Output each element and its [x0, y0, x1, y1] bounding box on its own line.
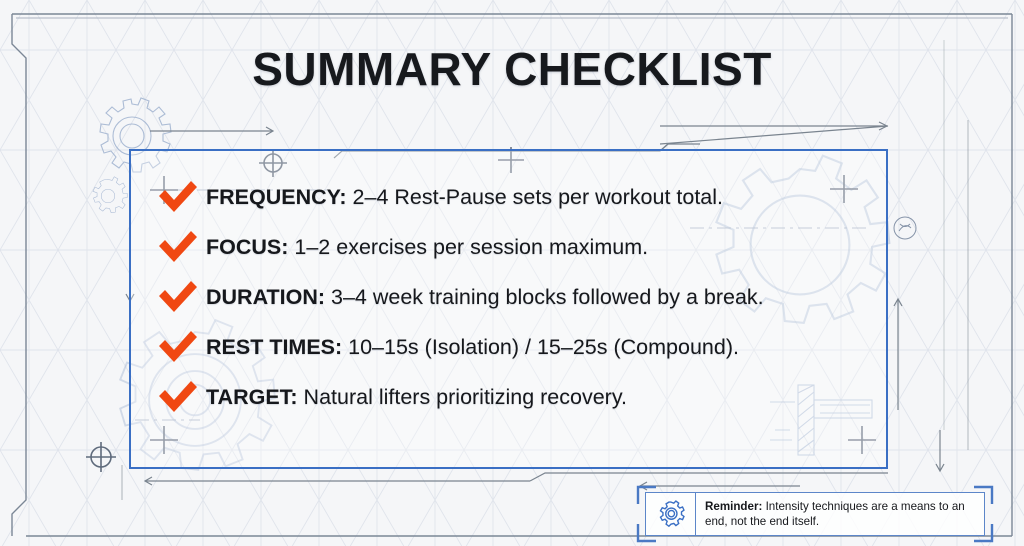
list-item-text: FOCUS: 1–2 exercises per session maximum… — [206, 235, 648, 260]
list-item-label: REST TIMES: — [206, 335, 342, 359]
check-icon — [150, 279, 206, 315]
list-item-value: Natural lifters prioritizing recovery. — [298, 385, 627, 409]
list-item-value: 1–2 exercises per session maximum. — [288, 235, 648, 259]
slide-canvas: SUMMARY CHECKLIST FREQUENCY: 2–4 Rest-Pa… — [0, 0, 1024, 546]
check-icon — [150, 379, 206, 415]
list-item-value: 10–15s (Isolation) / 15–25s (Compound). — [342, 335, 739, 359]
gear-icon — [646, 493, 696, 535]
list-item-label: DURATION: — [206, 285, 325, 309]
list-item-text: TARGET: Natural lifters prioritizing rec… — [206, 385, 627, 410]
list-item: DURATION: 3–4 week training blocks follo… — [150, 272, 890, 322]
list-item: TARGET: Natural lifters prioritizing rec… — [150, 372, 890, 422]
list-item-label: FOCUS: — [206, 235, 288, 259]
check-icon — [150, 179, 206, 215]
checklist: FREQUENCY: 2–4 Rest-Pause sets per worko… — [150, 172, 890, 422]
check-icon — [150, 229, 206, 265]
check-icon — [150, 329, 206, 365]
list-item: REST TIMES: 10–15s (Isolation) / 15–25s … — [150, 322, 890, 372]
reminder-text: Reminder: Intensity techniques are a mea… — [696, 499, 984, 530]
list-item: FREQUENCY: 2–4 Rest-Pause sets per worko… — [150, 172, 890, 222]
reminder-label: Reminder: — [705, 500, 762, 513]
list-item-value: 2–4 Rest-Pause sets per workout total. — [347, 185, 723, 209]
reminder-box: Reminder: Intensity techniques are a mea… — [645, 492, 985, 536]
list-item-text: REST TIMES: 10–15s (Isolation) / 15–25s … — [206, 335, 739, 360]
list-item-label: FREQUENCY: — [206, 185, 347, 209]
list-item-value: 3–4 week training blocks followed by a b… — [325, 285, 764, 309]
list-item: FOCUS: 1–2 exercises per session maximum… — [150, 222, 890, 272]
list-item-text: DURATION: 3–4 week training blocks follo… — [206, 285, 764, 310]
list-item-text: FREQUENCY: 2–4 Rest-Pause sets per worko… — [206, 185, 723, 210]
page-title: SUMMARY CHECKLIST — [0, 42, 1024, 96]
list-item-label: TARGET: — [206, 385, 298, 409]
